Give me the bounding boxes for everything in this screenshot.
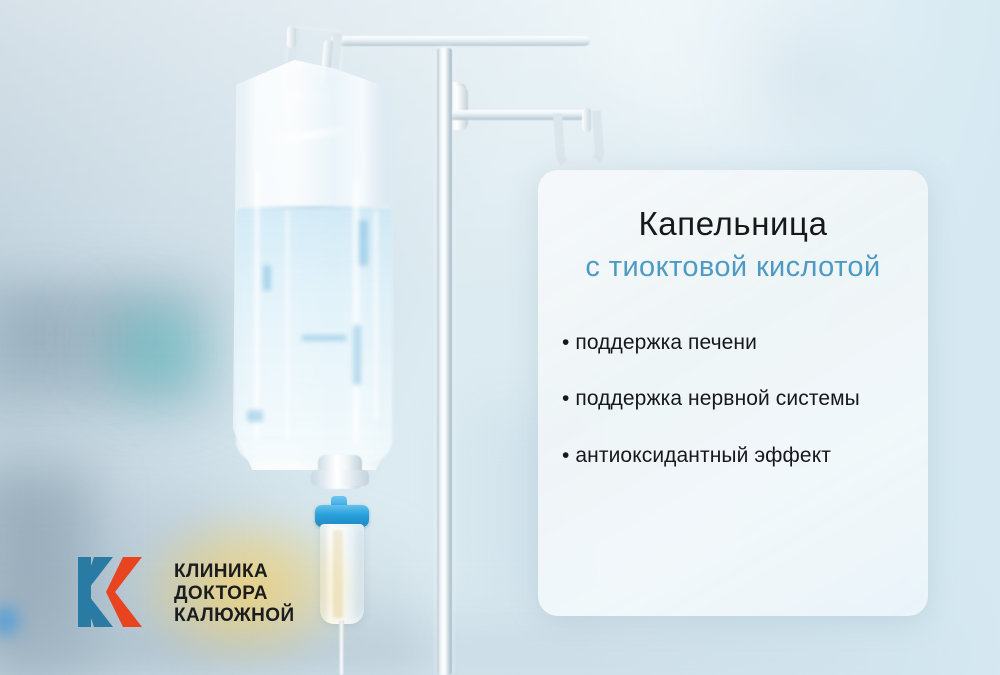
- iv-bag-blue-tint-5: [247, 410, 263, 422]
- iv-bag-blue-tint-2: [359, 220, 368, 266]
- bullet-icon: •: [562, 331, 569, 354]
- iv-bag: [233, 60, 395, 470]
- bullet-icon: •: [562, 387, 569, 410]
- benefit-label: поддержка печени: [575, 331, 757, 354]
- iv-bag-blue-tint-3: [301, 335, 347, 341]
- card-title-sub: с тиоктовой кислотой: [556, 251, 910, 284]
- iv-bag-port: [311, 470, 369, 486]
- iv-bag-highlight-4: [373, 210, 379, 420]
- iv-bag-blue-tint-1: [263, 265, 271, 291]
- iv-bag-fluid-level-line: [239, 206, 389, 209]
- benefits-list: • поддержка печени • поддержка нервной с…: [556, 329, 910, 470]
- bullet-icon: •: [562, 444, 569, 467]
- iv-bag-highlight-2: [285, 210, 290, 440]
- card-title-main: Капельница: [556, 206, 910, 242]
- iv-stand-hook-left-stem: [287, 26, 296, 48]
- background-teal-light: [128, 320, 190, 382]
- benefit-label: поддержка нервной системы: [575, 387, 859, 410]
- background-blue-accent-glow: [0, 600, 28, 642]
- info-card-content: Капельница с тиоктовой кислотой • поддер…: [538, 170, 928, 616]
- info-card: Капельница с тиоктовой кислотой • поддер…: [538, 170, 928, 616]
- iv-stand-crossbar: [330, 36, 590, 46]
- background-wall-panel-2: [10, 300, 70, 370]
- iv-stand-hook-right-icon: [553, 110, 605, 170]
- benefit-label: антиоксидантный эффект: [575, 444, 831, 467]
- logo-mark-icon: [78, 555, 160, 634]
- benefit-item: • поддержка нервной системы: [562, 385, 904, 413]
- iv-bag-highlight-1: [253, 170, 261, 440]
- clinic-logo[interactable]: КЛИНИКА ДОКТОРА КАЛЮЖНОЙ: [78, 552, 310, 636]
- logo-text: КЛИНИКА ДОКТОРА КАЛЮЖНОЙ: [174, 561, 295, 628]
- iv-stand-pole: [437, 48, 452, 675]
- iv-bag-blue-tint-4: [353, 325, 361, 385]
- benefit-item: • антиоксидантный эффект: [562, 442, 904, 470]
- benefit-item: • поддержка печени: [562, 329, 904, 357]
- banner-canvas: Капельница с тиоктовой кислотой • поддер…: [0, 0, 1000, 675]
